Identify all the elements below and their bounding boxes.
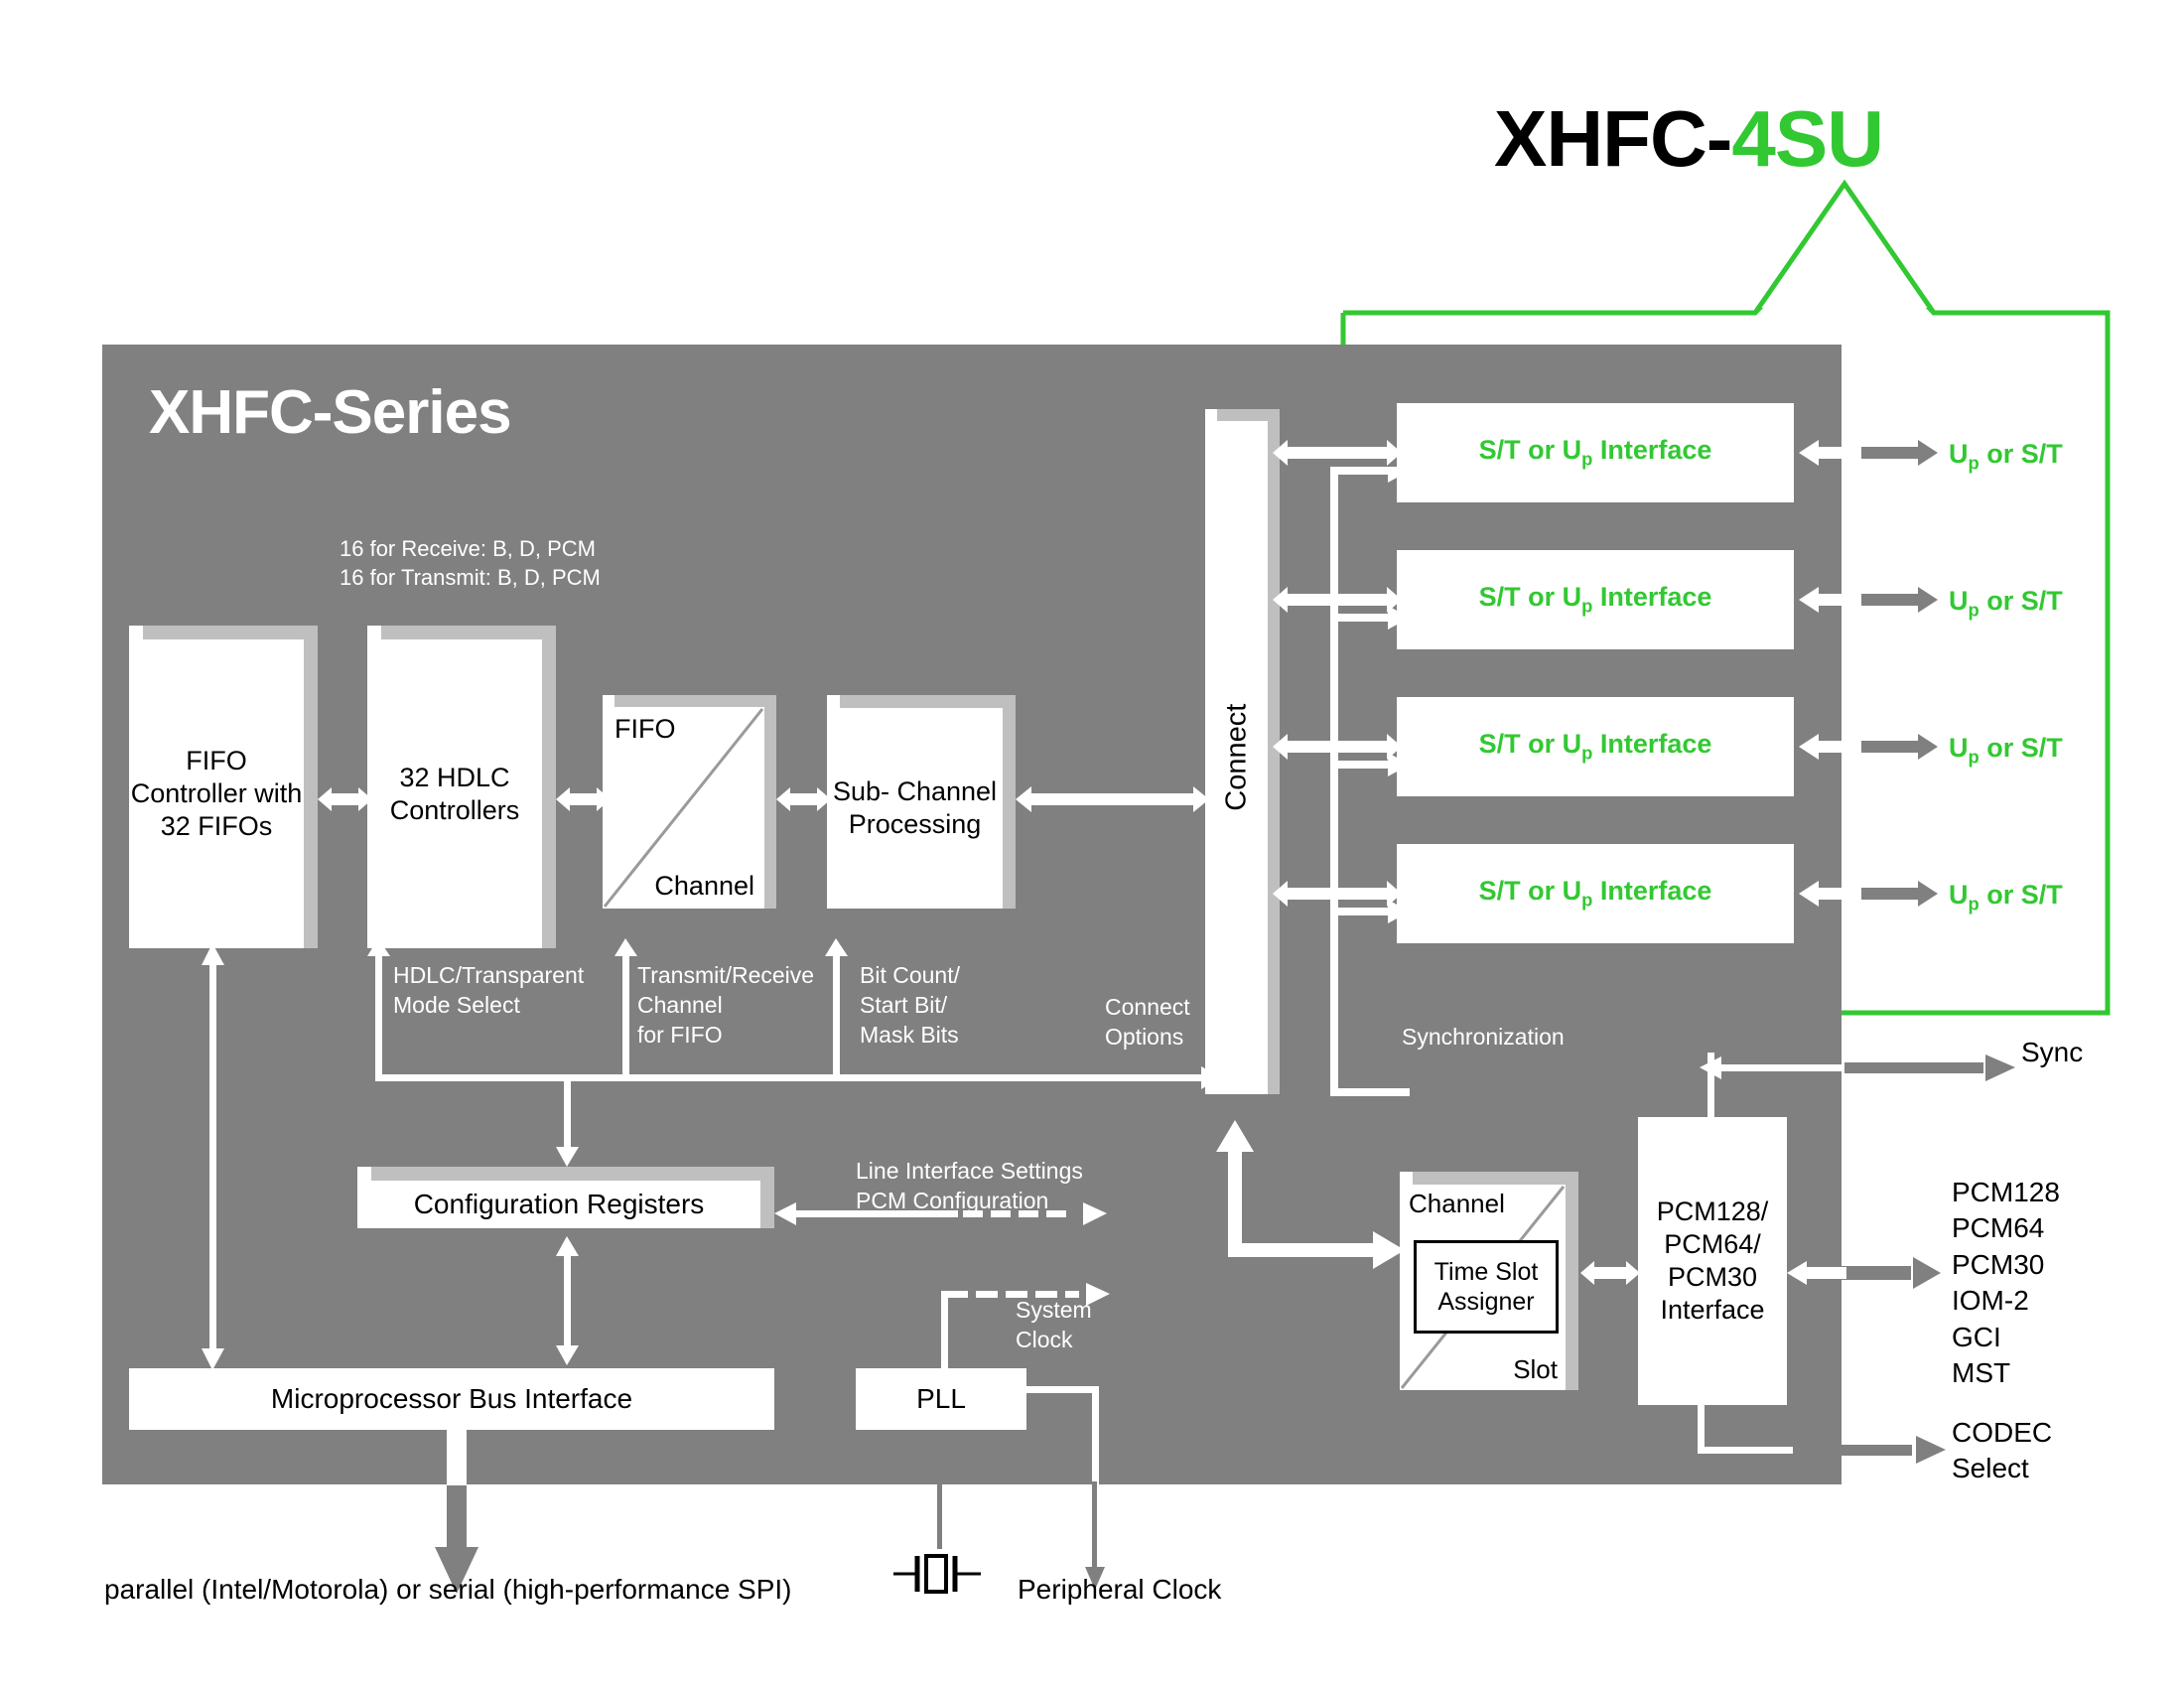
block-tsa-inner-label: Time Slot Assigner bbox=[1434, 1257, 1539, 1317]
caption-parallel-serial: parallel (Intel/Motorola) or serial (hig… bbox=[104, 1572, 792, 1608]
page-title: XHFC-4SU bbox=[1494, 99, 1883, 179]
arrow-fifo-microprocessor bbox=[202, 943, 225, 1370]
arrow-fifochannel-subchannel bbox=[776, 779, 831, 819]
annotation-hdlc-mode: HDLC/Transparent Mode Select bbox=[393, 961, 584, 1021]
block-pcm-interface[interactable]: PCM128/ PCM64/ PCM30 Interface bbox=[1638, 1117, 1787, 1405]
block-fifo-channel-bottom-label: Channel bbox=[654, 870, 754, 903]
label-pcm-modes: PCM128 PCM64 PCM30 IOM-2 GCI MST bbox=[1952, 1175, 2060, 1391]
block-hdlc-controllers[interactable]: 32 HDLC Controllers bbox=[367, 626, 556, 948]
title-prefix: XHFC- bbox=[1494, 94, 1731, 183]
label-external-up-st-2: Up or S/T bbox=[1949, 585, 2063, 622]
block-pll-label: PLL bbox=[916, 1382, 966, 1416]
arrow-crystal-to-pll bbox=[929, 1430, 953, 1549]
block-microprocessor-bus-interface-label: Microprocessor Bus Interface bbox=[271, 1382, 632, 1416]
block-tsa-slot-label: Slot bbox=[1513, 1354, 1558, 1386]
label-codec-select: CODEC Select bbox=[1952, 1415, 2052, 1487]
arrow-fifo-hdlc bbox=[318, 779, 372, 819]
label-sync: Sync bbox=[2021, 1035, 2083, 1070]
arrow-tsa-pcm bbox=[1580, 1253, 1640, 1293]
block-st-up-interface-2[interactable]: S/T or Up Interface bbox=[1397, 550, 1794, 649]
arrow-external-interface-2 bbox=[1799, 582, 1938, 618]
annotation-tx-rx-channel: Transmit/Receive Channel for FIFO bbox=[637, 961, 814, 1051]
block-sub-channel-processing[interactable]: Sub- Channel Processing bbox=[827, 695, 1016, 909]
arrow-external-interface-3 bbox=[1799, 729, 1938, 765]
block-st-up-interface-3[interactable]: S/T or Up Interface bbox=[1397, 697, 1794, 796]
block-pcm-interface-label: PCM128/ PCM64/ PCM30 Interface bbox=[1657, 1196, 1769, 1327]
label-peripheral-clock: Peripheral Clock bbox=[1018, 1572, 1221, 1608]
arrow-peripheral-clock bbox=[1023, 1386, 1161, 1595]
annotation-bit-count: Bit Count/ Start Bit/ Mask Bits bbox=[860, 961, 960, 1051]
block-configuration-registers-label: Configuration Registers bbox=[357, 1181, 760, 1228]
block-hdlc-controllers-label: 32 HDLC Controllers bbox=[367, 639, 542, 948]
block-st-up-interface-4-label: S/T or Up Interface bbox=[1479, 876, 1712, 911]
arrow-connect-timeslot bbox=[1206, 1092, 1405, 1291]
block-microprocessor-bus-interface[interactable]: Microprocessor Bus Interface bbox=[129, 1368, 774, 1430]
bus-stub-inside-chip bbox=[427, 1430, 486, 1485]
block-sub-channel-processing-label: Sub- Channel Processing bbox=[827, 708, 1003, 909]
block-st-up-interface-4[interactable]: S/T or Up Interface bbox=[1397, 844, 1794, 943]
label-external-up-st-1: Up or S/T bbox=[1949, 438, 2063, 475]
block-fifo-channel-top-label: FIFO bbox=[614, 713, 676, 746]
block-time-slot-assigner[interactable]: Channel Slot Time Slot Assigner bbox=[1400, 1172, 1578, 1390]
arrow-external-interface-4 bbox=[1799, 876, 1938, 912]
title-suffix: 4SU bbox=[1731, 94, 1883, 183]
block-configuration-registers[interactable]: Configuration Registers bbox=[357, 1167, 774, 1228]
arrow-bus-to-config bbox=[556, 1077, 580, 1167]
block-tsa-inner[interactable]: Time Slot Assigner bbox=[1414, 1240, 1559, 1334]
arrow-subchannel-connect bbox=[1016, 779, 1209, 819]
label-external-up-st-4: Up or S/T bbox=[1949, 879, 2063, 915]
block-st-up-interface-2-label: S/T or Up Interface bbox=[1479, 582, 1712, 617]
label-external-up-st-3: Up or S/T bbox=[1949, 732, 2063, 769]
block-st-up-interface-3-label: S/T or Up Interface bbox=[1479, 729, 1712, 764]
block-fifo-controller[interactable]: FIFO Controller with 32 FIFOs bbox=[129, 626, 318, 948]
block-fifo-controller-label: FIFO Controller with 32 FIFOs bbox=[129, 639, 304, 948]
block-connect-label: Connect bbox=[1219, 704, 1254, 811]
block-fifo-channel-matrix[interactable]: FIFO Channel bbox=[603, 695, 776, 909]
crystal-oscillator-icon bbox=[893, 1544, 1003, 1604]
block-tsa-channel-label: Channel bbox=[1409, 1189, 1505, 1220]
arrow-codec-select bbox=[1698, 1402, 1946, 1472]
arrow-pcm-external bbox=[1787, 1253, 1941, 1293]
block-st-up-interface-1[interactable]: S/T or Up Interface bbox=[1397, 403, 1794, 502]
annotation-system-clock: System Clock bbox=[1016, 1296, 1092, 1355]
annotation-connect-options: Connect Options bbox=[1105, 993, 1190, 1053]
block-st-up-interface-1-label: S/T or Up Interface bbox=[1479, 435, 1712, 470]
arrow-config-line-interface bbox=[774, 1198, 1107, 1232]
chip-title: XHFC-Series bbox=[149, 382, 511, 444]
annotation-synchronization: Synchronization bbox=[1402, 1023, 1565, 1053]
sync-feed-bus bbox=[1330, 467, 1410, 1162]
arrow-external-interface-1 bbox=[1799, 435, 1938, 471]
fifo-note: 16 for Receive: B, D, PCM 16 for Transmi… bbox=[340, 534, 601, 592]
arrow-sync-external bbox=[1688, 1055, 2015, 1088]
arrow-config-microprocessor bbox=[556, 1236, 580, 1365]
